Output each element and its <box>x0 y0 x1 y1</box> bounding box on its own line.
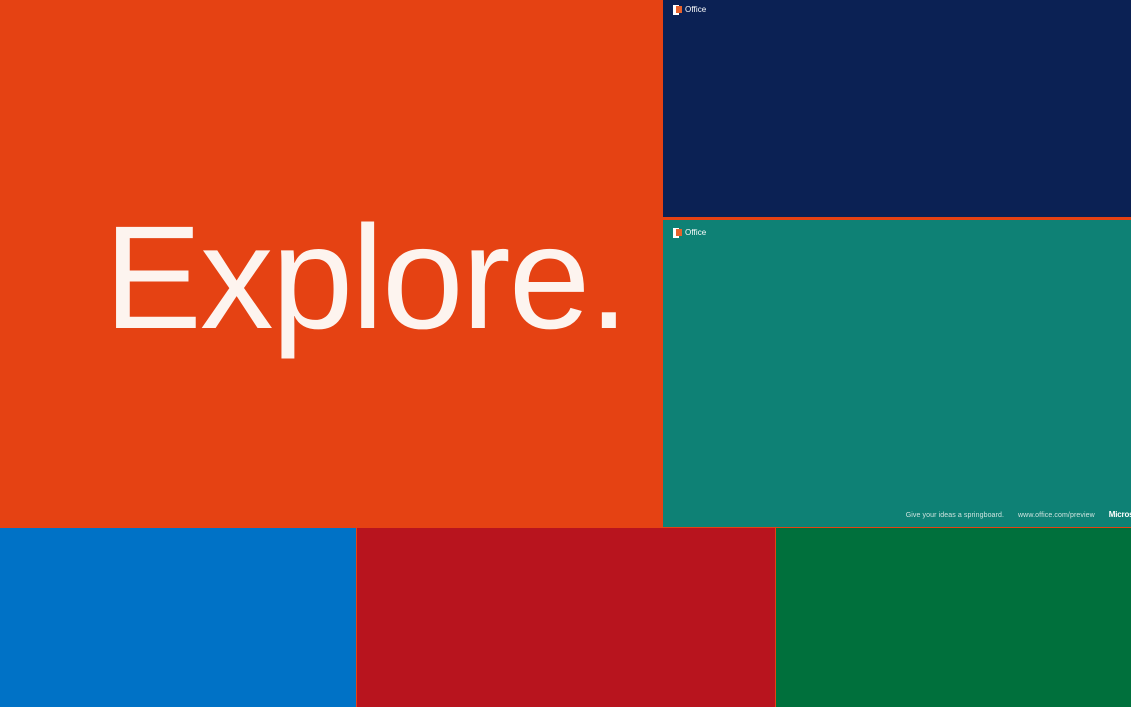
office-wordmark: Office <box>685 6 706 14</box>
office-logo-liberate: Office <box>673 4 706 15</box>
microsoft-wordmark: Microsoft <box>1109 511 1131 519</box>
panel-explore[interactable]: Explore. <box>0 0 663 527</box>
office-document-icon <box>673 228 682 238</box>
office-logo-achieve: Office <box>673 227 706 238</box>
footer-tagline: Give your ideas a springboard. <box>906 512 1004 519</box>
footer-strip: Give your ideas a springboard. www.offic… <box>663 507 1131 523</box>
panel-achieve[interactable]: Achieve. <box>663 220 1131 527</box>
panel-explore-word: Explore. <box>104 205 627 352</box>
panel-collaborate[interactable]: Collaborate. <box>776 528 1131 707</box>
panel-evolve[interactable]: Evolve. <box>0 528 356 707</box>
office-brand-collage: Explore. Liberate. Achieve. Evolve. Pers… <box>0 0 1131 707</box>
office-wordmark: Office <box>685 229 706 237</box>
footer-url[interactable]: www.office.com/preview <box>1018 512 1095 519</box>
panel-liberate[interactable]: Liberate. <box>663 0 1131 217</box>
office-document-icon <box>673 5 682 15</box>
panel-personalize[interactable]: Personalize. <box>357 528 775 707</box>
